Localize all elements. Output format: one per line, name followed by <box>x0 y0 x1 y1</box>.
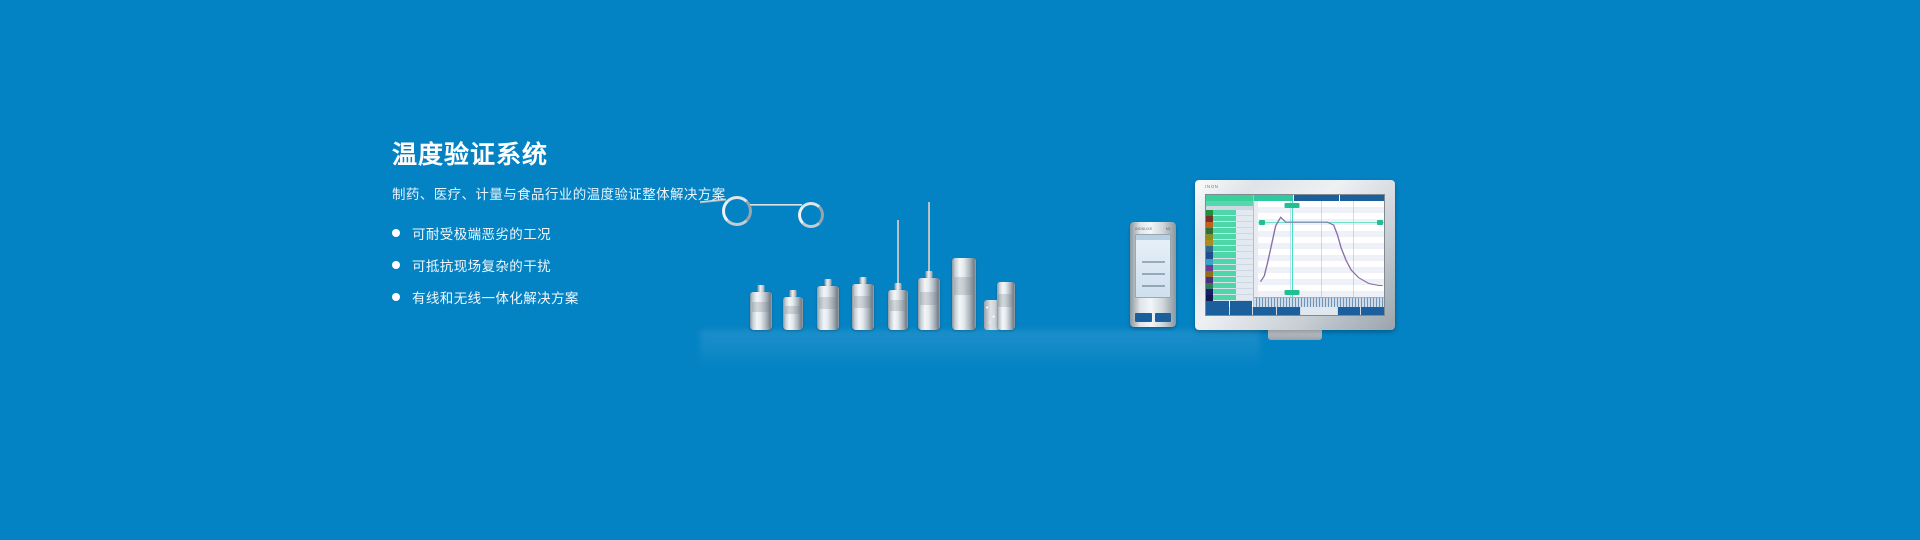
handheld-keypad[interactable] <box>1135 313 1171 322</box>
handheld-model-label: M1 <box>1166 227 1171 231</box>
probe-neck <box>825 279 832 286</box>
sensor-lead <box>750 204 802 206</box>
probe-neck <box>790 290 797 297</box>
handheld-screen-line <box>1142 273 1165 275</box>
scene-reflection <box>700 330 1260 370</box>
bullet-dot-icon <box>392 261 400 269</box>
sensor-coil-icon <box>722 196 752 226</box>
chart-horizontal-scrollbar[interactable] <box>1254 297 1384 307</box>
toolbar-button-prev[interactable] <box>1253 307 1276 315</box>
handheld-screen <box>1135 234 1171 298</box>
probe-body <box>918 278 940 330</box>
validation-software-monitor: INON <box>1195 180 1395 330</box>
monitor-stand <box>1268 330 1322 340</box>
monitor-bezel: INON <box>1195 180 1395 330</box>
sensor-lead <box>700 199 726 204</box>
channel-legend-panel[interactable] <box>1206 195 1254 307</box>
probe-body <box>750 292 772 330</box>
handheld-key-back[interactable] <box>1155 313 1172 322</box>
probe-neck <box>758 285 765 292</box>
probe-body <box>817 286 839 330</box>
toolbar-spacer <box>1301 307 1337 315</box>
handheld-key-confirm[interactable] <box>1135 313 1152 322</box>
handheld-logger-device[interactable]: INONLIKE M1 <box>1130 222 1176 327</box>
software-toolbar[interactable] <box>1206 307 1384 315</box>
toolbar-button-next[interactable] <box>1277 307 1300 315</box>
probe-body <box>783 297 803 330</box>
toolbar-button-exit[interactable] <box>1361 307 1384 315</box>
toolbar-button-settings[interactable] <box>1338 307 1361 315</box>
handheld-brand-row: INONLIKE M1 <box>1135 226 1171 231</box>
probe-neck <box>895 283 902 290</box>
probe-body <box>997 282 1015 330</box>
feature-label: 可耐受极端恶劣的工况 <box>412 223 551 243</box>
toolbar-button-analyze[interactable] <box>1230 307 1253 315</box>
legend-rows <box>1206 210 1253 301</box>
probe-body <box>888 290 908 330</box>
probe-neck <box>926 271 933 278</box>
chart-plot-area <box>1254 201 1384 297</box>
bullet-dot-icon <box>392 293 400 301</box>
handheld-brand-label: INONLIKE <box>1135 227 1152 231</box>
temperature-curve <box>1258 201 1384 297</box>
probe-body <box>852 284 874 330</box>
toolbar-button-acquire[interactable] <box>1206 307 1229 315</box>
monitor-brand-logo: INON <box>1205 184 1219 189</box>
handheld-titlebar <box>1136 235 1170 240</box>
software-screen <box>1205 194 1385 316</box>
handheld-screen-line <box>1142 261 1165 263</box>
probe-neck <box>860 277 867 284</box>
bullet-dot-icon <box>392 229 400 237</box>
hero-banner: 温度验证系统 制药、医疗、计量与食品行业的温度验证整体解决方案 可耐受极端恶劣的… <box>0 0 1920 540</box>
product-photo-group: INONLIKE M1 INON <box>700 120 1260 330</box>
software-body <box>1206 195 1384 307</box>
handheld-screen-line <box>1142 285 1165 287</box>
feature-label: 可抵抗现场复杂的干扰 <box>412 255 551 275</box>
chart-panel <box>1254 195 1384 307</box>
feature-label: 有线和无线一体化解决方案 <box>412 287 579 307</box>
probe-body <box>952 258 976 330</box>
